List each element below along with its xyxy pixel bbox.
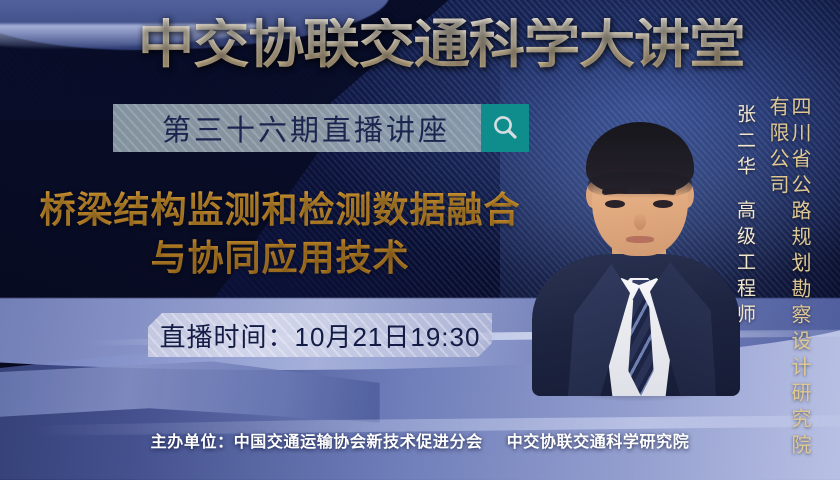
topic-line-2: 与协同应用技术 bbox=[20, 234, 540, 282]
speaker-name: 张二华 bbox=[733, 104, 754, 182]
speaker-organization: 四川省公路规划勘察设计研究院有限公司 bbox=[766, 96, 810, 480]
topic-line-1: 桥梁结构监测和检测数据融合 bbox=[20, 186, 540, 234]
search-icon-box[interactable] bbox=[481, 104, 529, 152]
footer-org-1: 中国交通运输协会新技术促进分会 bbox=[234, 434, 483, 451]
subtitle-bar-label: 第三十六期直播讲座 bbox=[113, 107, 481, 149]
speaker-portrait bbox=[538, 96, 734, 396]
portrait-eye-right bbox=[653, 200, 673, 208]
main-title: 中交协联交通科学大讲堂 bbox=[138, 18, 744, 71]
broadcast-time-banner: 直播时间：10月21日19:30 bbox=[148, 313, 492, 357]
portrait-eye-left bbox=[605, 200, 625, 208]
portrait-nose bbox=[634, 212, 646, 230]
subtitle-bar: 第三十六期直播讲座 bbox=[113, 104, 529, 152]
live-stream-poster: 中交协联交通科学大讲堂 中交协联交通科学大讲堂 第三十六期直播讲座 桥梁结构监测… bbox=[0, 0, 840, 480]
speaker-job-title: 高级工程师 bbox=[733, 200, 754, 330]
topic-title: 桥梁结构监测和检测数据融合 与协同应用技术 bbox=[20, 186, 540, 282]
footer-org-2: 中交协联交通科学研究院 bbox=[507, 434, 690, 451]
footer-organizers: 主办单位：中国交通运输协会新技术促进分会中交协联交通科学研究院 bbox=[0, 428, 840, 452]
search-icon bbox=[490, 113, 520, 143]
portrait-mouth bbox=[626, 236, 654, 243]
broadcast-time-text: 直播时间：10月21日19:30 bbox=[160, 317, 481, 354]
footer-prefix: 主办单位： bbox=[151, 434, 234, 451]
